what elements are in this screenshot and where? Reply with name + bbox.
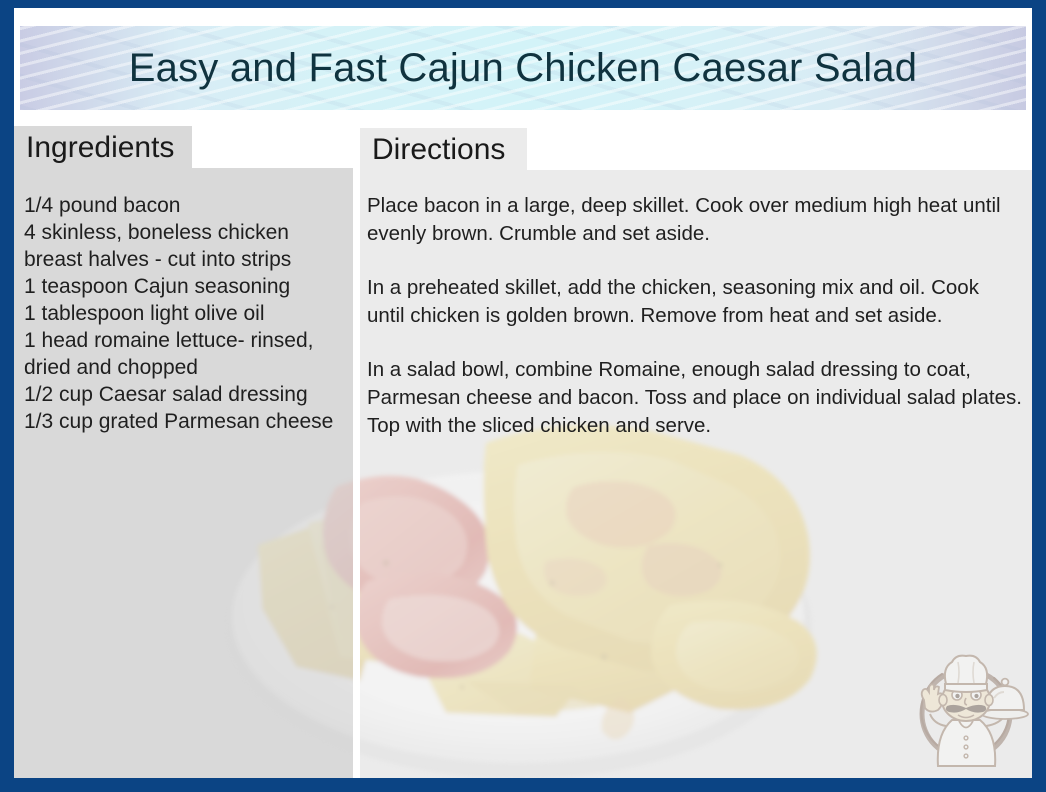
ingredients-header-tab: Ingredients xyxy=(14,126,192,169)
card-border-left xyxy=(0,0,14,792)
ingredients-heading: Ingredients xyxy=(14,126,192,169)
list-item: 1 head romaine lettuce- rinsed, xyxy=(24,327,349,354)
card-border-top xyxy=(0,0,1046,8)
title-banner: Easy and Fast Cajun Chicken Caesar Salad xyxy=(20,26,1026,110)
direction-step: In a preheated skillet, add the chicken,… xyxy=(367,274,1022,330)
directions-header-tab: Directions xyxy=(360,128,527,171)
list-item: 1 tablespoon light olive oil xyxy=(24,300,349,327)
recipe-card: Easy and Fast Cajun Chicken Caesar Salad xyxy=(0,0,1046,792)
list-item: 4 skinless, boneless chicken xyxy=(24,219,349,246)
card-border-right xyxy=(1032,0,1046,792)
list-item: breast halves - cut into strips xyxy=(24,246,349,273)
list-item: 1/3 cup grated Parmesan cheese xyxy=(24,408,349,435)
recipe-title: Easy and Fast Cajun Chicken Caesar Salad xyxy=(20,26,1026,110)
directions-text: Place bacon in a large, deep skillet. Co… xyxy=(367,192,1022,440)
directions-heading: Directions xyxy=(360,128,527,171)
panel-gutter xyxy=(353,168,360,778)
list-item: 1 teaspoon Cajun seasoning xyxy=(24,273,349,300)
list-item: 1/4 pound bacon xyxy=(24,192,349,219)
direction-step: Place bacon in a large, deep skillet. Co… xyxy=(367,192,1022,248)
card-border-bottom xyxy=(0,778,1046,792)
ingredients-list: 1/4 pound bacon 4 skinless, boneless chi… xyxy=(24,192,349,435)
list-item: 1/2 cup Caesar salad dressing xyxy=(24,381,349,408)
list-item: dried and chopped xyxy=(24,354,349,381)
direction-step: In a salad bowl, combine Romaine, enough… xyxy=(367,356,1022,440)
